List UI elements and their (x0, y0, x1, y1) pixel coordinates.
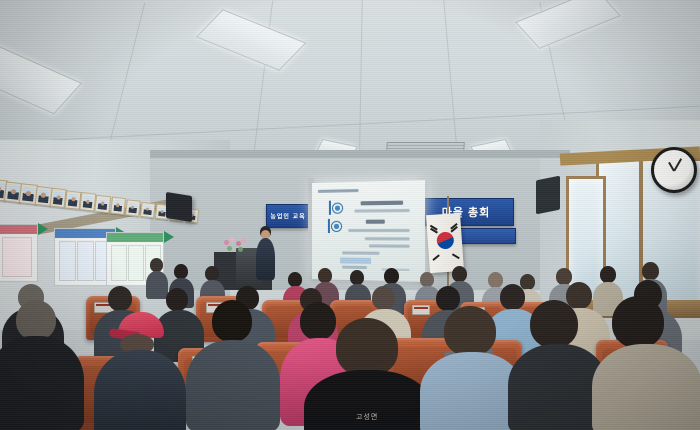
ceiling-light-panel (0, 46, 82, 115)
slide-accent-bar (328, 219, 330, 233)
wall-mounted-speaker (536, 176, 560, 215)
wall-mounted-speaker (166, 192, 192, 222)
slide-subtitle-line (354, 209, 409, 212)
jacket-back-text: 고성면 (356, 412, 378, 422)
portrait-photo (68, 193, 79, 206)
slide-title-line (361, 201, 403, 206)
slide-highlight (340, 257, 371, 264)
slide-bullet-line (369, 244, 410, 247)
flower-arrangement (222, 236, 248, 256)
slide-bullet-line (342, 251, 379, 254)
ceiling-light-panel (196, 9, 306, 71)
projection-screen (312, 180, 425, 282)
portrait-photo (128, 202, 137, 213)
slide-bullet-icon (332, 203, 343, 214)
portrait-photo (143, 205, 152, 215)
slide-section-line (366, 220, 385, 224)
banner-left-text: 농업인 교육 (267, 212, 309, 221)
navy-vest (94, 350, 186, 430)
slide-bullet-line (348, 229, 409, 232)
portrait-photo (98, 198, 108, 210)
wall-clock (651, 147, 697, 193)
slide-section-icon (331, 221, 342, 232)
slide-bullet-line (365, 237, 410, 240)
poster-organization-red (0, 224, 38, 282)
slide-bullet-line (342, 266, 367, 269)
clock-minute-hand (673, 158, 681, 171)
photo-scene: 농업인 교육 마을 총회 (0, 0, 700, 430)
seat-number-plate (412, 305, 430, 315)
head-curly-hair (336, 318, 398, 376)
portrait-photo (53, 191, 64, 205)
korean-national-flag (426, 213, 464, 273)
ceiling-light-panel (515, 0, 621, 49)
portrait-photo (22, 187, 34, 202)
portrait-photo (83, 196, 93, 209)
portrait-photo (38, 189, 49, 203)
portrait-photo (113, 200, 122, 211)
leader-portrait (140, 201, 155, 218)
banner-left: 농업인 교육 (266, 204, 310, 228)
leader-portrait (80, 192, 97, 211)
leader-portrait (110, 197, 126, 215)
leader-portrait (95, 195, 111, 214)
wall-beam (150, 150, 570, 158)
taeguk-symbol (436, 232, 454, 250)
presenter-body (256, 238, 275, 280)
slide-accent-bar (329, 201, 331, 215)
portrait-photo (7, 184, 19, 200)
slide-header-line (318, 189, 359, 193)
leader-portrait (125, 199, 141, 217)
